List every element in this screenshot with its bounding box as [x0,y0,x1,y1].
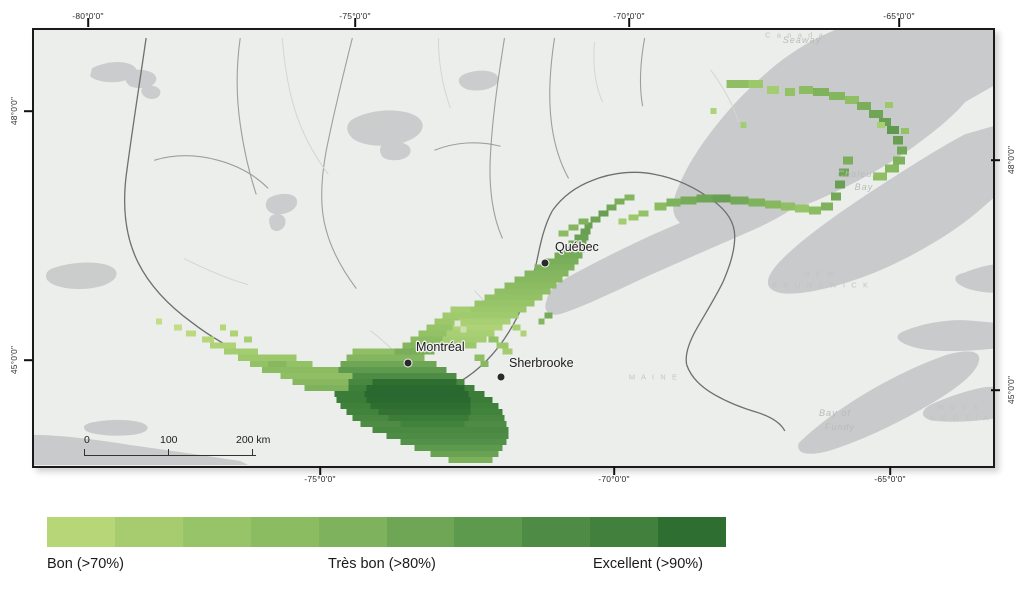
geo-label-maine: M A I N E [629,373,679,382]
tick-label-top-75: -75°0'0" [339,11,370,21]
legend-swatch-7 [454,517,522,547]
tick-mark-left-48 [24,110,33,112]
scale-label-100: 100 [160,434,178,446]
geo-label-new-brunswick-2: B R U N S W I C K [772,281,870,290]
tick-label-left-48: 48°0'0" [9,97,19,125]
map-frame[interactable]: Seaway Chaleur Bay Bay of Fundy N E W B … [32,28,995,468]
legend-swatch-1 [47,517,115,547]
city-label-montreal: Montréal [416,340,465,354]
geo-label-chaleur-bay: Bay [855,182,874,192]
scale-bar-rule [84,455,256,456]
legend-label-tres-bon: Très bon (>80%) [328,556,436,572]
scale-tick-100 [168,449,169,456]
geo-label-new-brunswick-1: N E W [804,270,836,279]
scale-bar: 0 100 200 km [84,434,256,456]
geo-label-nova-scotia-2: S C O T I A [930,414,991,423]
tick-label-right-48: 48°0'0" [1006,146,1016,174]
scale-bar-labels: 0 100 200 km [84,434,256,448]
city-marker-sherbrooke[interactable] [497,373,506,382]
legend-label-bon: Bon (>70%) [47,556,124,572]
scale-label-0: 0 [84,434,90,446]
tick-label-bottom-75: -75°0'0" [304,474,335,484]
tick-mark-right-45 [991,389,1000,391]
scale-tick-0 [84,449,85,456]
legend-swatch-3 [183,517,251,547]
city-marker-quebec[interactable] [541,259,550,268]
geo-label-canada: C a n a d a [765,31,825,40]
city-label-quebec: Québec [555,240,599,254]
legend-swatch-10 [658,517,726,547]
tick-label-top-80: -80°0'0" [72,11,103,21]
tick-label-top-70: -70°0'0" [613,11,644,21]
tick-label-bottom-65: -65°0'0" [874,474,905,484]
tick-label-right-45: 45°0'0" [1006,376,1016,404]
map-svg [34,30,993,466]
tick-mark-right-48 [991,159,1000,161]
scale-tick-200 [252,449,253,456]
legend-swatch-6 [387,517,455,547]
legend-swatch-8 [522,517,590,547]
tick-mark-left-45 [24,359,33,361]
legend-labels: Bon (>70%) Très bon (>80%) Excellent (>9… [47,556,726,580]
legend-swatch-5 [319,517,387,547]
map-page: Seaway Chaleur Bay Bay of Fundy N E W B … [0,0,1024,604]
geo-label-chaleur: Chaleur [837,169,876,179]
city-label-sherbrooke: Sherbrooke [509,356,574,370]
tick-label-bottom-70: -70°0'0" [598,474,629,484]
legend-color-ramp [47,517,726,547]
geo-label-nova-scotia-1: N O V A [938,403,980,412]
legend-swatch-4 [251,517,319,547]
scale-bar-line [84,449,256,456]
geo-label-fundy: Fundy [825,422,856,432]
scale-label-200: 200 km [236,434,270,446]
map-canvas[interactable]: Seaway Chaleur Bay Bay of Fundy N E W B … [34,30,993,466]
legend: Bon (>70%) Très bon (>80%) Excellent (>9… [47,517,726,580]
tick-label-left-45: 45°0'0" [9,346,19,374]
city-marker-montreal[interactable] [404,359,413,368]
legend-swatch-2 [115,517,183,547]
tick-label-top-65: -65°0'0" [883,11,914,21]
legend-swatch-9 [590,517,658,547]
geo-label-bay-of: Bay of [819,408,851,418]
legend-label-excellent: Excellent (>90%) [593,556,703,572]
